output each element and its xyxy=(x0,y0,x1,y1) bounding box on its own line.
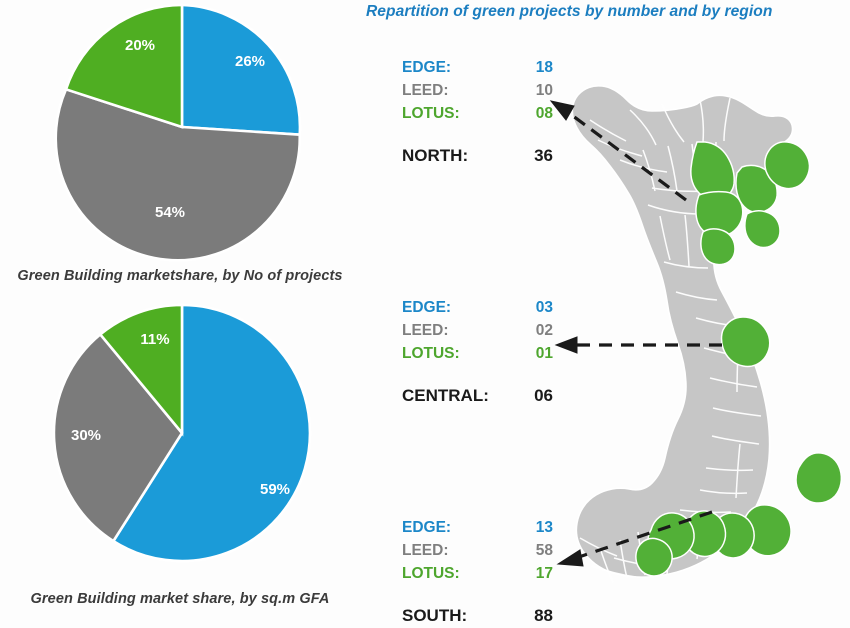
stat-label-leed: LEED: xyxy=(402,79,507,102)
stat-value-edge: 18 xyxy=(507,56,553,79)
region-total-value: 88 xyxy=(507,604,553,628)
province-north-6 xyxy=(701,229,735,265)
arrow-north-line xyxy=(565,110,686,200)
callout-arrows xyxy=(551,101,722,566)
stat-value-leed: 58 xyxy=(507,539,553,562)
province-south-coast xyxy=(796,453,841,503)
stat-label-edge: EDGE: xyxy=(402,56,507,79)
pie-caption-by-projects: Green Building marketshare, by No of pro… xyxy=(0,268,360,284)
province-north-3 xyxy=(736,165,777,212)
region-total-label: NORTH: xyxy=(402,144,507,168)
region-total-row: NORTH: 36 xyxy=(402,144,562,168)
region-total-row: SOUTH: 88 xyxy=(402,604,562,628)
pie2-label-green: 11% xyxy=(140,331,169,348)
stat-row-lotus: LOTUS: 08 xyxy=(402,102,562,125)
stat-label-edge: EDGE: xyxy=(402,516,507,539)
stat-label-lotus: LOTUS: xyxy=(402,102,507,125)
stat-value-edge: 13 xyxy=(507,516,553,539)
pie1-label-gray: 54% xyxy=(155,204,185,221)
pie-caption-by-gfa: Green Building market share, by sq.m GFA xyxy=(0,591,360,607)
region-total-label: SOUTH: xyxy=(402,604,507,628)
pie1-slices xyxy=(56,5,300,260)
province-south-3 xyxy=(684,511,726,557)
arrow-south-line xyxy=(576,512,712,558)
province-south-1 xyxy=(743,505,791,556)
province-north-5 xyxy=(765,142,810,189)
province-central-1 xyxy=(722,317,770,367)
region-total-row: CENTRAL: 06 xyxy=(402,384,562,408)
stat-label-lotus: LOTUS: xyxy=(402,562,507,585)
stat-row-leed: LEED: 58 xyxy=(402,539,562,562)
region-stats-south: EDGE: 13 LEED: 58 LOTUS: 17 SOUTH: 88 xyxy=(402,516,562,628)
stat-label-leed: LEED: xyxy=(402,319,507,342)
province-south-4 xyxy=(648,513,694,559)
pie-chart-by-projects: 26% 54% 20% xyxy=(0,0,360,290)
map-land-group xyxy=(525,86,842,582)
stat-value-leed: 10 xyxy=(507,79,553,102)
stat-value-edge: 03 xyxy=(507,296,553,319)
province-south-2 xyxy=(712,513,754,558)
stat-row-edge: EDGE: 03 xyxy=(402,296,562,319)
region-total-label: CENTRAL: xyxy=(402,384,507,408)
province-north-2 xyxy=(696,192,743,237)
region-total-value: 06 xyxy=(507,384,553,408)
pie-by-projects-svg: 26% 54% 20% xyxy=(30,0,330,262)
stat-row-leed: LEED: 02 xyxy=(402,319,562,342)
stat-row-edge: EDGE: 18 xyxy=(402,56,562,79)
stat-row-lotus: LOTUS: 01 xyxy=(402,342,562,365)
region-total-value: 36 xyxy=(507,144,553,168)
stat-label-edge: EDGE: xyxy=(402,296,507,319)
province-borders xyxy=(580,98,761,582)
stat-value-lotus: 17 xyxy=(507,562,553,585)
stat-row-leed: LEED: 10 xyxy=(402,79,562,102)
region-stats-central: EDGE: 03 LEED: 02 LOTUS: 01 CENTRAL: 06 xyxy=(402,296,562,408)
province-north-1 xyxy=(691,142,734,200)
province-south-5 xyxy=(636,538,672,576)
stat-value-lotus: 08 xyxy=(507,102,553,125)
pie2-label-gray: 30% xyxy=(71,427,101,444)
pie2-label-blue: 59% xyxy=(260,481,290,498)
page-title: Repartition of green projects by number … xyxy=(366,3,846,21)
pie1-label-green: 20% xyxy=(125,37,155,54)
pie1-label-blue: 26% xyxy=(235,53,265,70)
stat-value-lotus: 01 xyxy=(507,342,553,365)
pie-by-gfa-svg: 59% 30% 11% xyxy=(30,300,330,580)
province-north-4 xyxy=(745,211,780,248)
stat-value-leed: 02 xyxy=(507,319,553,342)
region-stats-north: EDGE: 18 LEED: 10 LOTUS: 08 NORTH: 36 xyxy=(402,56,562,168)
highlighted-provinces xyxy=(636,142,842,576)
pie-chart-by-gfa: 59% 30% 11% xyxy=(0,300,360,620)
stat-row-lotus: LOTUS: 17 xyxy=(402,562,562,585)
vietnam-outline xyxy=(572,86,792,577)
stat-label-leed: LEED: xyxy=(402,539,507,562)
stat-label-lotus: LOTUS: xyxy=(402,342,507,365)
stat-row-edge: EDGE: 13 xyxy=(402,516,562,539)
